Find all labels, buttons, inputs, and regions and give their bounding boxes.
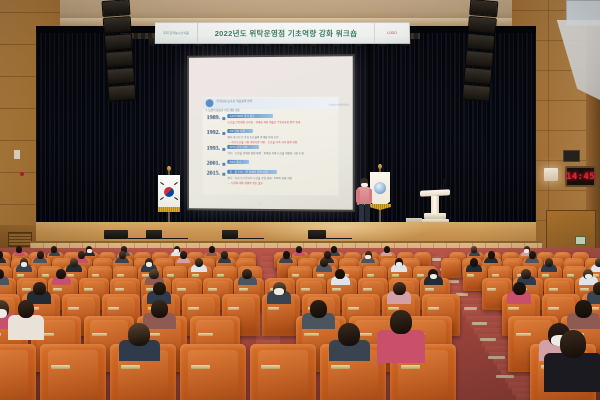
exit-sign-icon <box>575 236 586 245</box>
seat-number-plate <box>332 288 341 292</box>
audience-member-head <box>320 258 329 267</box>
slide-bar-label: GATT BOP 협의 종료 <box>230 114 255 118</box>
seat-number-plate <box>301 288 310 292</box>
seat-number-plate <box>198 333 213 337</box>
slide-logo-icon <box>206 99 214 107</box>
audience-member-head <box>56 269 66 280</box>
auditorium-seat[interactable] <box>441 258 461 278</box>
audience-member-head <box>575 300 592 318</box>
seat-number-plate <box>115 288 124 292</box>
seat-number-plate <box>428 307 439 311</box>
seat-number-plate <box>167 274 174 278</box>
slide-bar: UR 협상 타결 <box>228 129 254 133</box>
audience-member-head <box>593 282 600 296</box>
audience-member-head <box>18 300 34 318</box>
audience-member-head <box>390 310 412 334</box>
slide-bar-label: WTO 출범 합의 <box>230 145 248 149</box>
event-banner: 주최 한국농수산식품 2022년도 위탁운영점 기초역량 강화 워크숍 LOGO <box>155 22 410 44</box>
stage-monitor-speaker <box>146 230 162 239</box>
aisle-marker <box>488 356 505 359</box>
audience-member-head <box>242 269 252 280</box>
audience-member-head <box>128 323 150 346</box>
audience-member-head <box>488 251 495 258</box>
slide-bullet-icon <box>223 132 226 135</box>
slide-sub-line: → 국내 농산물 시장 개방기반 마련 · 농산물 가격 지지 정책 전환 <box>228 140 298 144</box>
slide-bar-label: UR 협상 타결 <box>230 129 245 133</box>
projection-screen: 우리나라 농수산 식품정책 연혁 1. 농업의 통상과 수입 개방 과정 한국농… <box>189 56 353 210</box>
audience-member-head <box>310 300 327 318</box>
national-flag-finial-icon <box>167 166 171 171</box>
organization-emblem-icon <box>374 182 386 194</box>
slide-sub-line: 양허 · 농산물 관세화 협정 체결 · 관세화 유예 농산물 재협상 시한 도… <box>228 151 304 155</box>
audience-member-head <box>78 251 85 258</box>
auditorium-seat[interactable] <box>250 344 316 400</box>
audience-member-head <box>560 330 586 358</box>
seat-number-plate <box>331 365 351 369</box>
audience-member-head <box>384 246 390 252</box>
aisle-marker <box>496 375 514 378</box>
face-mask-icon <box>174 249 179 252</box>
banner-left-note: 주최 한국농수산식품 <box>155 23 198 43</box>
slide-section-label: 1. 농업의 통상과 수입 개방 과정 <box>206 108 240 112</box>
face-mask-icon <box>365 255 370 259</box>
audience-member-head <box>37 251 44 258</box>
seat-number-plate <box>191 365 211 369</box>
audience-member-head <box>70 258 79 267</box>
face-mask-icon <box>274 288 284 295</box>
korean-national-flag <box>158 175 180 209</box>
face-mask-icon <box>146 262 152 266</box>
seat-number-plate <box>304 333 319 337</box>
seat-number-plate <box>192 274 199 278</box>
slide-bar-label: DDA 개시 <box>230 160 241 164</box>
audience-member-head <box>331 246 337 252</box>
presenter <box>356 178 372 228</box>
seat-number-plate <box>68 307 79 311</box>
seat-number-plate <box>292 274 299 278</box>
slide-header-title: 우리나라 농수산 식품정책 연혁 <box>216 99 252 103</box>
audience-member-head <box>335 269 345 280</box>
audience-member-head <box>153 282 166 296</box>
slide-year: 1993. <box>207 145 220 152</box>
seat-number-plate <box>217 274 224 278</box>
face-mask-icon <box>396 262 402 266</box>
face-mask-icon <box>430 274 438 279</box>
audience-member-head <box>16 246 22 252</box>
slide-sub-line: 쌀과 쇠고기 등 주요 농산물의 관세화 유예 조치 <box>228 135 298 139</box>
audience-member-head <box>0 251 3 258</box>
seat-number-plate <box>492 274 499 278</box>
auditorium-seat[interactable] <box>40 344 106 400</box>
speaker-cable <box>326 238 352 239</box>
presenter-arm-right <box>369 189 373 203</box>
seat-number-plate <box>177 288 186 292</box>
face-mask-icon <box>585 274 593 279</box>
face-mask-icon <box>0 309 7 318</box>
face-mask-icon <box>21 262 27 266</box>
seat-number-plate <box>108 307 119 311</box>
audience-member-shoulders <box>377 330 425 364</box>
audience-member-head <box>296 246 302 252</box>
taeguk-symbol-icon <box>164 187 174 197</box>
seat-number-plate <box>92 333 107 337</box>
seat-number-plate <box>348 307 359 311</box>
audience-member-head <box>283 251 290 258</box>
slide-year: 2001. <box>207 160 220 167</box>
national-flag-fringe <box>158 207 180 212</box>
slide-timeline-row: 1993.WTO 출범 합의양허 · 농산물 관세화 협정 체결 · 관세화 유… <box>207 145 304 155</box>
audience-member-head <box>545 258 554 267</box>
audience-member-head <box>338 323 360 346</box>
seat-number-plate <box>188 307 199 311</box>
seat-number-plate <box>84 288 93 292</box>
audience-member-head <box>149 269 159 280</box>
clock-time: 14:45 <box>566 172 595 182</box>
seat-number-plate <box>508 307 519 311</box>
stage-monitor-speaker <box>308 230 326 239</box>
stage-monitor-speaker <box>222 230 238 239</box>
audience-member-head <box>521 269 531 280</box>
slide-timeline-row: 2001.DDA 개시 <box>207 160 250 167</box>
aisle-marker <box>432 258 441 261</box>
seat-number-plate <box>17 274 24 278</box>
slide-sub-line: 중국 · 미국 등으로부터 농산물 수입 확대 · 513% 관세 적용 <box>228 175 292 179</box>
aisle-marker <box>472 322 487 325</box>
seat-number-plate <box>549 288 558 292</box>
seat-number-plate <box>548 307 559 311</box>
audience-member-head <box>513 282 526 296</box>
audience-member-head <box>33 282 46 296</box>
seat-number-plate <box>268 307 279 311</box>
slide-bullet-icon <box>223 148 226 151</box>
audience-member-shoulders <box>8 315 43 340</box>
slide-bar: 한 · 중 FTA · 쌀 관세화 전면 시행 <box>228 170 278 175</box>
audience-member-head <box>180 251 187 258</box>
slide-year: 1992. <box>207 129 220 136</box>
audience-member-head <box>151 300 168 318</box>
banner-logo: LOGO <box>375 23 410 43</box>
seat-number-plate <box>42 274 49 278</box>
slide-year: 2015. <box>207 170 220 177</box>
audience-member-head <box>595 258 600 267</box>
seat-number-plate <box>53 288 62 292</box>
audience-member-head <box>470 258 479 267</box>
seat-number-plate <box>51 365 71 369</box>
banner-title: 2022년도 위탁운영점 기초역량 강화 워크숍 <box>198 23 375 43</box>
lectern <box>420 190 450 226</box>
alarm-indicator-icon <box>20 172 24 176</box>
audience-member-head <box>221 251 228 258</box>
seat-number-plate <box>228 307 239 311</box>
audience-member-head <box>119 251 126 258</box>
slide-corner-note: 한국농수산식품유통공사 <box>329 104 350 107</box>
slide-bullet-icon <box>223 117 226 120</box>
slide-timeline-row: 1989.GATT BOP 협의 종료농산물 수입개방 공식화 · 관세화 계획… <box>207 114 301 124</box>
audience-member-head <box>51 246 57 252</box>
aisle-marker <box>480 338 496 341</box>
slide-bar-label: 한 · 중 FTA · 쌀 관세화 전면 시행 <box>230 170 268 174</box>
audience-member-head <box>529 251 536 258</box>
seat-number-plate <box>417 274 424 278</box>
speaker-cable <box>162 238 188 239</box>
slide-bar: GATT BOP 협의 종료 <box>228 114 274 118</box>
aisle-marker <box>464 307 477 310</box>
auditorium-seat[interactable] <box>180 344 246 400</box>
wall-lamp-icon <box>544 168 558 181</box>
seat-number-plate <box>542 274 549 278</box>
seat-number-plate <box>516 333 531 337</box>
slide-year: 1989. <box>207 114 220 121</box>
seat-number-plate <box>92 274 99 278</box>
presenter-arm-left <box>356 189 360 203</box>
auditorium-photo: 14:45 주최 한국농수산식품 2022년도 위탁운영점 기초역량 강화 워크… <box>0 0 600 400</box>
seat-number-plate <box>121 365 141 369</box>
seat-number-plate <box>467 274 474 278</box>
slide-page-number: 3 <box>260 204 261 206</box>
seat-number-plate <box>317 274 324 278</box>
audience-member-head <box>471 246 477 252</box>
stage-monitor-speaker <box>104 230 128 239</box>
light-switch-icon[interactable] <box>14 150 20 159</box>
digital-clock: 14:45 <box>565 166 596 187</box>
slide-timeline-row: 1992.UR 협상 타결쌀과 쇠고기 등 주요 농산물의 관세화 유예 조치→… <box>207 129 298 144</box>
auditorium-seat[interactable] <box>0 344 36 400</box>
slide-bullet-icon <box>223 163 226 166</box>
seat-number-plate <box>367 274 374 278</box>
audience-member-head <box>195 258 204 267</box>
audience-member-shoulders <box>544 353 600 392</box>
slide-bar: DDA 개시 <box>228 160 250 164</box>
lectern-column <box>431 196 439 213</box>
speaker-cable <box>238 238 264 239</box>
seat-number-plate <box>567 274 574 278</box>
wall-speaker-icon <box>563 150 580 162</box>
seat-number-plate <box>401 365 421 369</box>
slide-bar: WTO 출범 합의 <box>228 145 260 149</box>
face-mask-icon <box>87 249 92 252</box>
seat-number-plate <box>208 288 217 292</box>
audience-member-head <box>393 282 406 296</box>
org-flag-finial-icon <box>378 164 382 169</box>
seat-number-plate <box>22 288 31 292</box>
seat-number-plate <box>117 274 124 278</box>
seat-number-plate <box>487 288 496 292</box>
seat-number-plate <box>239 288 248 292</box>
slide-bullet-icon <box>223 173 226 176</box>
seat-number-plate <box>363 288 372 292</box>
seat-number-plate <box>425 288 434 292</box>
seat-number-plate <box>392 274 399 278</box>
slide-timeline-row: 2015.한 · 중 FTA · 쌀 관세화 전면 시행중국 · 미국 등으로부… <box>207 170 292 185</box>
left-wall-vent <box>8 232 32 247</box>
audience-member-head <box>209 246 215 252</box>
seat-number-plate <box>580 288 589 292</box>
microphone-head-icon <box>443 179 446 182</box>
slide-sub-line: → 농업의 대외 경쟁력 확보 필요 <box>228 181 292 185</box>
seat-number-plate <box>261 365 281 369</box>
slide-sub-line: 농산물 수입개방 공식화 · 관세화 계획 제출로 수입자유화 품목 확대 <box>228 120 301 124</box>
